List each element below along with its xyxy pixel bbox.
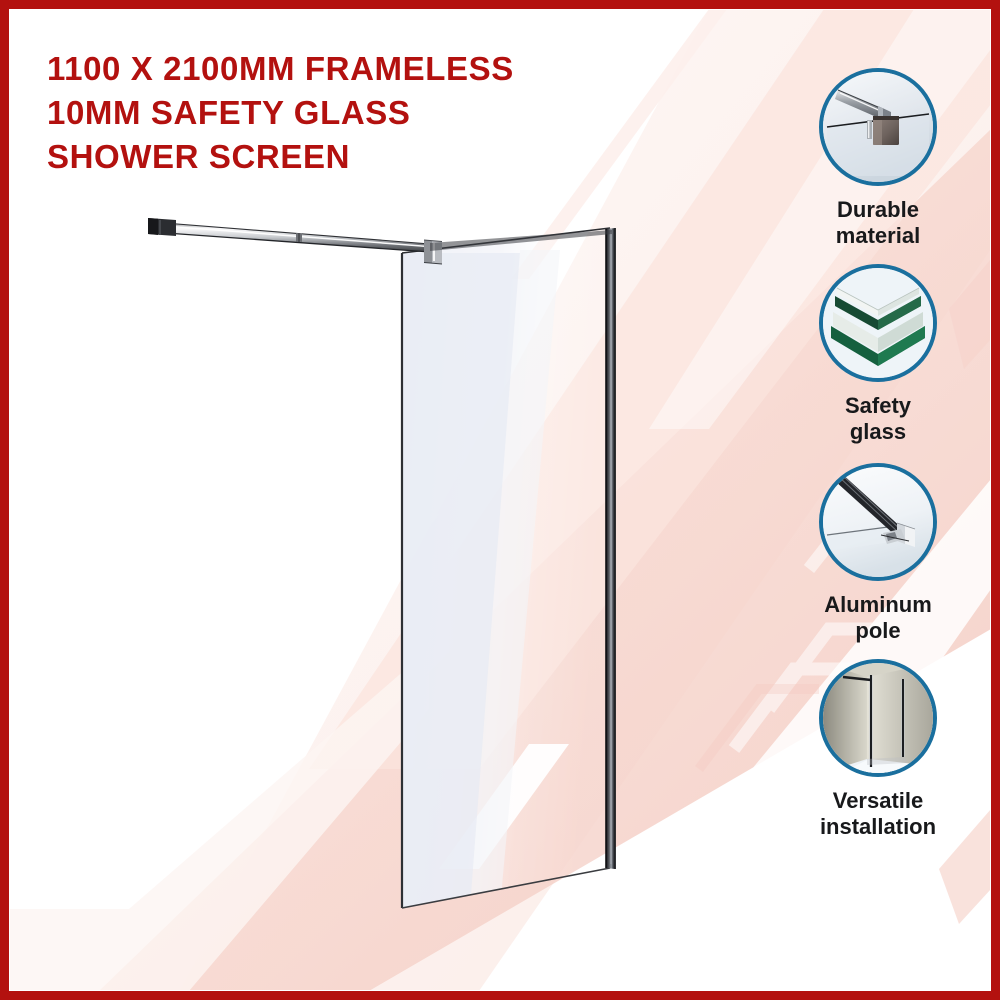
support-pole-icon-svg: [823, 467, 933, 577]
support-pole-icon: [819, 463, 937, 581]
feature-label-safety-glass: Safety glass: [778, 393, 978, 444]
feature-list: Durable material: [778, 68, 978, 852]
shower-enclosure-icon-svg: [823, 663, 933, 773]
layered-glass-icon-svg: [823, 268, 933, 378]
bracket-clamp-icon: [819, 68, 937, 186]
feature-durable-material: Durable material: [778, 68, 978, 248]
feature-label-line-1: Aluminum: [778, 592, 978, 618]
feature-versatile-installation: Versatile installation: [778, 659, 978, 839]
feature-label-aluminum-pole: Aluminum pole: [778, 592, 978, 643]
feature-label-line-2: pole: [778, 618, 978, 644]
feature-label-versatile-installation: Versatile installation: [778, 788, 978, 839]
feature-label-line-1: Safety: [778, 393, 978, 419]
feature-label-line-1: Versatile: [778, 788, 978, 814]
shower-enclosure-icon: [819, 659, 937, 777]
layered-glass-icon: [819, 264, 937, 382]
product-marketing-image: 1100 x 2100mm Frameless 10mm Safety Glas…: [0, 0, 1000, 1000]
feature-safety-glass: Safety glass: [778, 264, 978, 444]
feature-label-line-2: material: [778, 223, 978, 249]
feature-aluminum-pole: Aluminum pole: [778, 463, 978, 643]
feature-label-durable-material: Durable material: [778, 197, 978, 248]
feature-label-line-2: installation: [778, 814, 978, 840]
bracket-clamp-icon-svg: [823, 72, 933, 182]
feature-label-line-1: Durable: [778, 197, 978, 223]
title-line-2: 10mm Safety Glass: [47, 91, 667, 135]
title-line-3: Shower Screen: [47, 135, 667, 179]
product-title: 1100 x 2100mm Frameless 10mm Safety Glas…: [47, 47, 667, 179]
feature-label-line-2: glass: [778, 419, 978, 445]
title-line-1: 1100 x 2100mm Frameless: [47, 47, 667, 91]
